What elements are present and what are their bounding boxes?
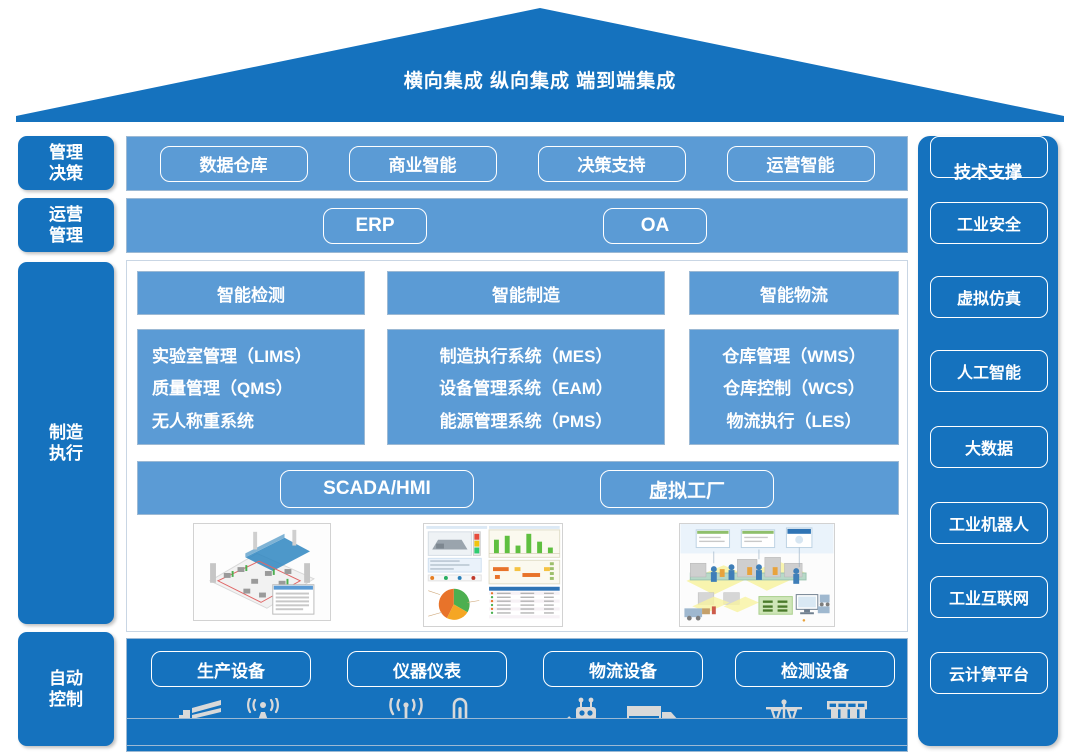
tech-item-industrial-internet[interactable]: 工业互联网	[930, 576, 1048, 618]
mfg-header-intelligent-manufacturing[interactable]: 智能制造	[387, 271, 665, 315]
platform-layer-band: SCADA/HMI 虚拟工厂	[137, 461, 899, 515]
foundation-strip	[126, 718, 908, 746]
mfg-line-pms: 能源管理系统（PMS）	[402, 407, 650, 432]
decision-item-operational-intelligence[interactable]: 运营智能	[727, 146, 875, 182]
technology-support-column: 技术支撑 工业安全 虚拟仿真 人工智能 大数据 工业机器人 工业互联网 云计算平…	[918, 136, 1058, 746]
mfg-column-intelligent-inspection: 智能检测 实验室管理（LIMS） 质量管理（QMS） 无人称重系统	[137, 271, 365, 445]
operations-item-oa[interactable]: OA	[603, 208, 707, 244]
decision-layer-band: 数据仓库 商业智能 决策支持 运营智能	[126, 136, 908, 191]
left-label-line1: 自动	[49, 668, 83, 689]
decision-item-business-intelligence[interactable]: 商业智能	[349, 146, 497, 182]
mfg-line-qms: 质量管理（QMS）	[152, 374, 350, 399]
tech-item-big-data-placeholder	[930, 136, 1048, 178]
mfg-line-wms: 仓库管理（WMS）	[704, 342, 884, 367]
sidebar-item-automation-control[interactable]: 自动 控制	[18, 632, 114, 746]
tech-item-industrial-security[interactable]: 工业安全	[930, 202, 1048, 244]
mfg-body-intelligent-inspection: 实验室管理（LIMS） 质量管理（QMS） 无人称重系统	[137, 329, 365, 445]
decision-item-decision-support[interactable]: 决策支持	[538, 146, 686, 182]
mfg-body-intelligent-logistics: 仓库管理（WMS） 仓库控制（WCS） 物流执行（LES）	[689, 329, 899, 445]
sidebar-item-manufacturing-execution[interactable]: 制造 执行	[18, 262, 114, 624]
left-label-line1: 运营	[49, 204, 83, 225]
left-label-line1: 管理	[49, 142, 83, 163]
operations-item-erp[interactable]: ERP	[323, 208, 427, 244]
left-label-line2: 控制	[49, 689, 83, 710]
mes-dashboard-thumbnail	[423, 523, 563, 627]
sidebar-item-management-decision[interactable]: 管理 决策	[18, 136, 114, 190]
tech-item-virtual-simulation[interactable]: 虚拟仿真	[930, 276, 1048, 318]
mfg-header-intelligent-logistics[interactable]: 智能物流	[689, 271, 899, 315]
automation-item-inspection-equipment[interactable]: 检测设备	[735, 651, 895, 687]
tech-item-artificial-intelligence[interactable]: 人工智能	[930, 350, 1048, 392]
left-layer-column: 管理 决策 运营 管理 制造 执行 自动 控制	[18, 136, 114, 746]
left-label-line2: 管理	[49, 225, 83, 246]
mfg-line-les: 物流执行（LES）	[704, 407, 884, 432]
factory-floor-layout-thumbnail	[193, 523, 331, 621]
mfg-body-intelligent-manufacturing: 制造执行系统（MES） 设备管理系统（EAM） 能源管理系统（PMS）	[387, 329, 665, 445]
manufacturing-execution-panel: 智能检测 实验室管理（LIMS） 质量管理（QMS） 无人称重系统 智能制造 制…	[126, 260, 908, 632]
mfg-column-intelligent-logistics: 智能物流 仓库管理（WMS） 仓库控制（WCS） 物流执行（LES）	[689, 271, 899, 445]
roof-label: 横向集成 纵向集成 端到端集成	[0, 66, 1080, 93]
mfg-header-intelligent-inspection[interactable]: 智能检测	[137, 271, 365, 315]
mfg-column-intelligent-manufacturing: 智能制造 制造执行系统（MES） 设备管理系统（EAM） 能源管理系统（PMS）	[387, 271, 665, 445]
production-line-logistics-thumbnail: ●	[679, 523, 835, 627]
left-label-line2: 执行	[49, 443, 83, 464]
operations-layer-band: ERP OA	[126, 198, 908, 253]
decision-item-data-warehouse[interactable]: 数据仓库	[160, 146, 308, 182]
roof-triangle: 横向集成 纵向集成 端到端集成	[0, 4, 1080, 122]
platform-item-virtual-factory[interactable]: 虚拟工厂	[600, 470, 774, 508]
mfg-line-lims: 实验室管理（LIMS）	[152, 342, 350, 367]
mfg-line-eam: 设备管理系统（EAM）	[402, 374, 650, 399]
left-label-line1: 制造	[49, 422, 83, 443]
sidebar-item-operations-management[interactable]: 运营 管理	[18, 198, 114, 252]
tech-item-cloud-platform[interactable]: 云计算平台	[930, 652, 1048, 694]
mfg-line-mes: 制造执行系统（MES）	[402, 342, 650, 367]
automation-item-logistics-equipment[interactable]: 物流设备	[543, 651, 703, 687]
mfg-line-unmanned-weighing: 无人称重系统	[152, 407, 350, 432]
svg-text:●: ●	[802, 618, 806, 624]
tech-item-industrial-robot[interactable]: 工业机器人	[930, 502, 1048, 544]
tech-item-big-data[interactable]: 大数据	[930, 426, 1048, 468]
automation-item-production-equipment[interactable]: 生产设备	[151, 651, 311, 687]
mfg-line-wcs: 仓库控制（WCS）	[704, 374, 884, 399]
platform-item-scada-hmi[interactable]: SCADA/HMI	[280, 470, 474, 508]
automation-item-instrumentation[interactable]: 仪器仪表	[347, 651, 507, 687]
left-label-line2: 决策	[49, 163, 83, 184]
